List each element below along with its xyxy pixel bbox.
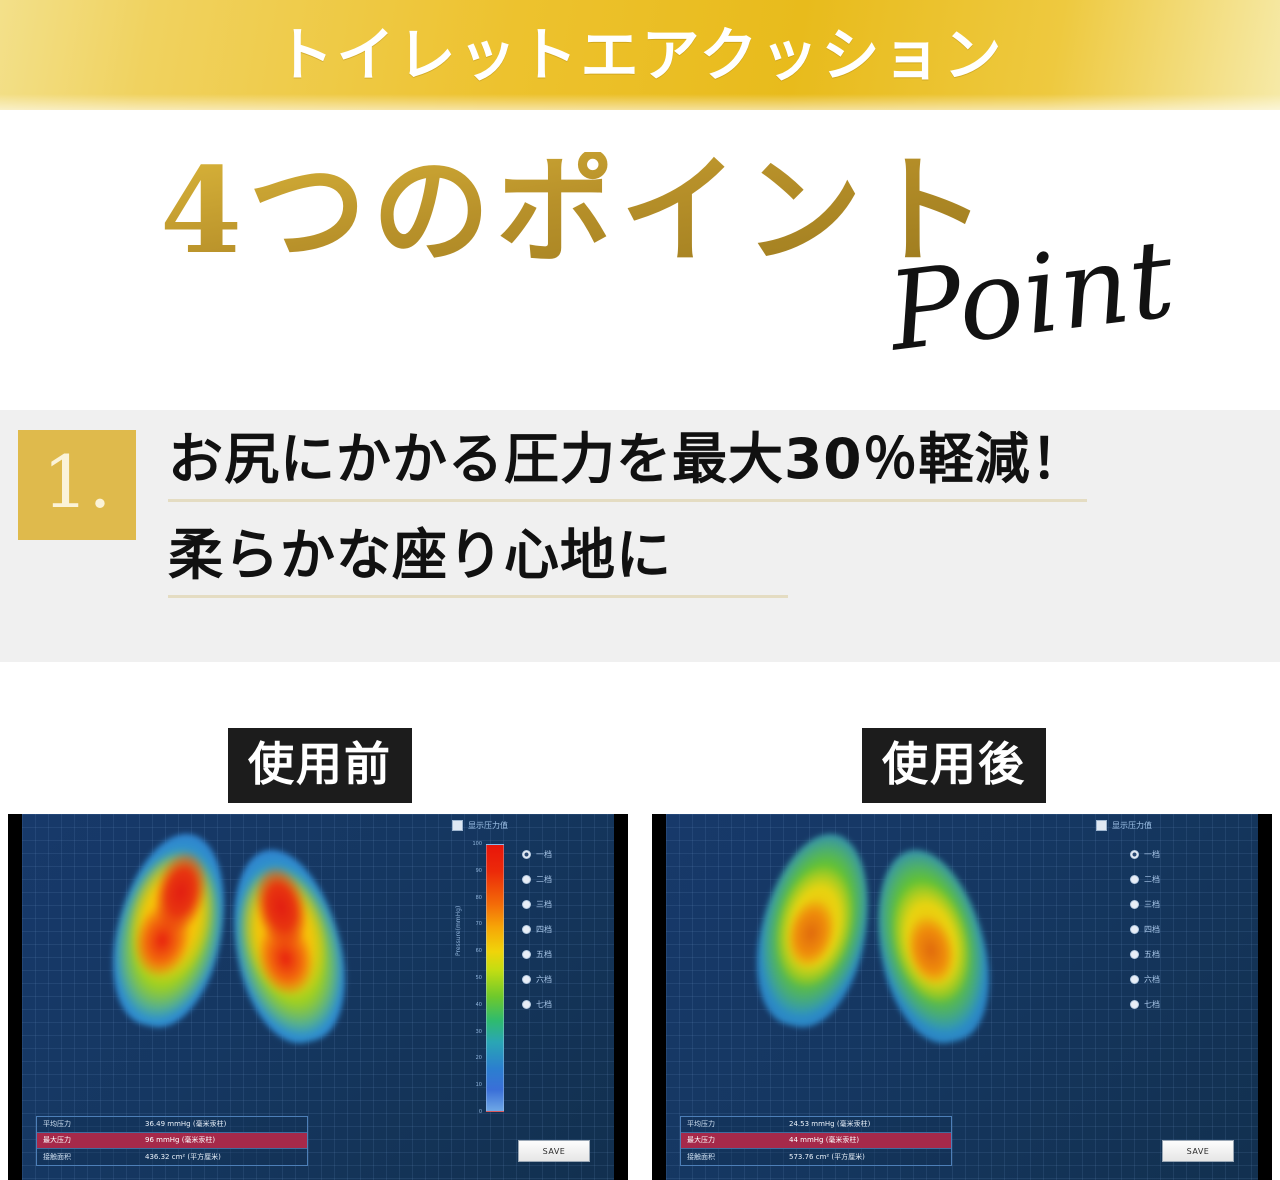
level-radio-label: 二档 (536, 876, 552, 884)
footprint-left-after (741, 823, 886, 1037)
level-radio-5[interactable]: 五档 (522, 942, 600, 967)
stats-value: 24.53 mmHg (毫米汞柱) (785, 1121, 951, 1128)
stats-value: 573.76 cm² (平方厘米) (785, 1154, 951, 1161)
point-heading-line-1: お尻にかかる圧力を最大30％軽減！ (168, 432, 1087, 502)
level-radio-label: 四档 (1144, 926, 1160, 934)
radio-dot-icon[interactable] (1130, 875, 1139, 884)
pressure-panel-after: 显示压力值 一档二档三档四档五档六档七档 平均压力24.53 mmHg (毫米汞… (652, 814, 1272, 1180)
pressure-plot-after: 显示压力值 一档二档三档四档五档六档七档 平均压力24.53 mmHg (毫米汞… (666, 814, 1258, 1180)
stats-key: 接触面积 (37, 1154, 141, 1161)
level-radio-label: 五档 (1144, 951, 1160, 959)
banner-title: トイレットエアクッション (275, 26, 1004, 84)
colorbar-axis-label: Pressure(mmHg) (456, 906, 462, 956)
level-radio-4[interactable]: 四档 (1130, 917, 1208, 942)
comparison-labels: 使用前 使用後 (0, 662, 1280, 814)
colorbar-tick: 100 (472, 842, 482, 847)
stats-value: 36.49 mmHg (毫米汞柱) (141, 1121, 307, 1128)
footprint-right-before (215, 839, 360, 1053)
colorbar-tick: 70 (476, 922, 482, 927)
point-section: 1. お尻にかかる圧力を最大30％軽減！ 柔らかな座り心地に (0, 410, 1280, 662)
level-radio-2[interactable]: 二档 (1130, 867, 1208, 892)
legend-after: 显示压力值 一档二档三档四档五档六档七档 (1096, 820, 1246, 1172)
colorbar-tick: 40 (476, 1003, 482, 1008)
stats-row: 最大压力96 mmHg (毫米汞柱) (37, 1133, 307, 1149)
colorbar-tick: 0 (479, 1110, 482, 1115)
colorbar-tick: 80 (476, 896, 482, 901)
radio-dot-icon[interactable] (522, 950, 531, 959)
radio-dot-icon[interactable] (522, 925, 531, 934)
stats-row: 平均压力36.49 mmHg (毫米汞柱) (37, 1117, 307, 1133)
level-radio-group-after[interactable]: 一档二档三档四档五档六档七档 (1130, 842, 1208, 1017)
level-radio-group-before[interactable]: 一档二档三档四档五档六档七档 (522, 842, 600, 1017)
point-heading: お尻にかかる圧力を最大30％軽減！ 柔らかな座り心地に (168, 432, 1087, 598)
level-radio-label: 四档 (536, 926, 552, 934)
colorbar-tick: 20 (476, 1056, 482, 1061)
stats-row: 接触面积436.32 cm² (平方厘米) (37, 1149, 307, 1165)
radio-dot-icon[interactable] (522, 975, 531, 984)
radio-dot-icon[interactable] (1130, 900, 1139, 909)
footprint-left-before (97, 823, 242, 1037)
level-radio-label: 一档 (536, 851, 552, 859)
level-radio-label: 一档 (1144, 851, 1160, 859)
product-banner: トイレットエアクッション (0, 0, 1280, 110)
legend-header-label: 显示压力值 (1112, 822, 1152, 830)
level-radio-4[interactable]: 四档 (522, 917, 600, 942)
stats-table-before: 平均压力36.49 mmHg (毫米汞柱)最大压力96 mmHg (毫米汞柱)接… (36, 1116, 308, 1166)
level-radio-label: 三档 (536, 901, 552, 909)
stats-key: 接触面积 (681, 1154, 785, 1161)
level-radio-label: 二档 (1144, 876, 1160, 884)
radio-dot-icon[interactable] (522, 1000, 531, 1009)
level-radio-2[interactable]: 二档 (522, 867, 600, 892)
radio-dot-icon[interactable] (522, 900, 531, 909)
level-radio-1[interactable]: 一档 (522, 842, 600, 867)
level-radio-7[interactable]: 七档 (522, 992, 600, 1017)
legend-header-before[interactable]: 显示压力值 (452, 820, 602, 831)
footprint-right-after (859, 839, 1004, 1053)
colorbar-tick: 10 (476, 1083, 482, 1088)
point-number: 1. (43, 446, 112, 524)
stats-row: 接触面积573.76 cm² (平方厘米) (681, 1149, 951, 1165)
title-section: 4つのポイント Point (0, 110, 1280, 410)
level-radio-7[interactable]: 七档 (1130, 992, 1208, 1017)
stats-key: 最大压力 (37, 1137, 141, 1144)
level-radio-label: 五档 (536, 951, 552, 959)
legend-before: 显示压力值 1009080706050403020100 Pressure(mm… (452, 820, 602, 1172)
legend-header-label: 显示压力值 (468, 822, 508, 830)
page-title-script: Point (883, 226, 1180, 368)
colorbar-ticks: 1009080706050403020100 (460, 844, 482, 1112)
stats-key: 最大压力 (681, 1137, 785, 1144)
colorbar-tick: 30 (476, 1030, 482, 1035)
colorbar-before: 1009080706050403020100 Pressure(mmHg) (460, 844, 520, 1112)
radio-dot-icon[interactable] (1130, 975, 1139, 984)
level-radio-6[interactable]: 六档 (1130, 967, 1208, 992)
stats-row: 最大压力44 mmHg (毫米汞柱) (681, 1133, 951, 1149)
level-radio-label: 六档 (536, 976, 552, 984)
level-radio-3[interactable]: 三档 (1130, 892, 1208, 917)
show-pressure-checkbox[interactable] (1096, 820, 1107, 831)
level-radio-label: 六档 (1144, 976, 1160, 984)
pressure-panel-before: 显示压力值 1009080706050403020100 Pressure(mm… (8, 814, 628, 1180)
after-label: 使用後 (862, 728, 1046, 803)
radio-dot-icon[interactable] (1130, 850, 1139, 859)
stats-value: 96 mmHg (毫米汞柱) (141, 1137, 307, 1144)
stats-row: 平均压力24.53 mmHg (毫米汞柱) (681, 1117, 951, 1133)
colorbar-tick: 90 (476, 869, 482, 874)
before-label: 使用前 (228, 728, 412, 803)
level-radio-label: 七档 (536, 1001, 552, 1009)
colorbar-tick: 60 (476, 949, 482, 954)
stats-key: 平均压力 (681, 1121, 785, 1128)
radio-dot-icon[interactable] (1130, 950, 1139, 959)
save-button-before[interactable]: SAVE (518, 1140, 590, 1162)
stats-table-after: 平均压力24.53 mmHg (毫米汞柱)最大压力44 mmHg (毫米汞柱)接… (680, 1116, 952, 1166)
point-heading-line-2: 柔らかな座り心地に (168, 528, 788, 598)
radio-dot-icon[interactable] (1130, 925, 1139, 934)
point-number-badge: 1. (18, 430, 136, 540)
stats-key: 平均压力 (37, 1121, 141, 1128)
page-title: 4つのポイント (160, 152, 992, 270)
colorbar-tick: 50 (476, 976, 482, 981)
level-radio-label: 三档 (1144, 901, 1160, 909)
legend-header-after[interactable]: 显示压力值 (1096, 820, 1246, 831)
stats-value: 436.32 cm² (平方厘米) (141, 1154, 307, 1161)
level-radio-label: 七档 (1144, 1001, 1160, 1009)
level-radio-1[interactable]: 一档 (1130, 842, 1208, 867)
pressure-map-panels: 显示压力值 1009080706050403020100 Pressure(mm… (0, 814, 1280, 1180)
level-radio-5[interactable]: 五档 (1130, 942, 1208, 967)
radio-dot-icon[interactable] (522, 850, 531, 859)
radio-dot-icon[interactable] (522, 875, 531, 884)
level-radio-6[interactable]: 六档 (522, 967, 600, 992)
show-pressure-checkbox[interactable] (452, 820, 463, 831)
level-radio-3[interactable]: 三档 (522, 892, 600, 917)
pressure-plot-before: 显示压力值 1009080706050403020100 Pressure(mm… (22, 814, 614, 1180)
radio-dot-icon[interactable] (1130, 1000, 1139, 1009)
colorbar-gradient (486, 844, 504, 1112)
save-button-after[interactable]: SAVE (1162, 1140, 1234, 1162)
stats-value: 44 mmHg (毫米汞柱) (785, 1137, 951, 1144)
